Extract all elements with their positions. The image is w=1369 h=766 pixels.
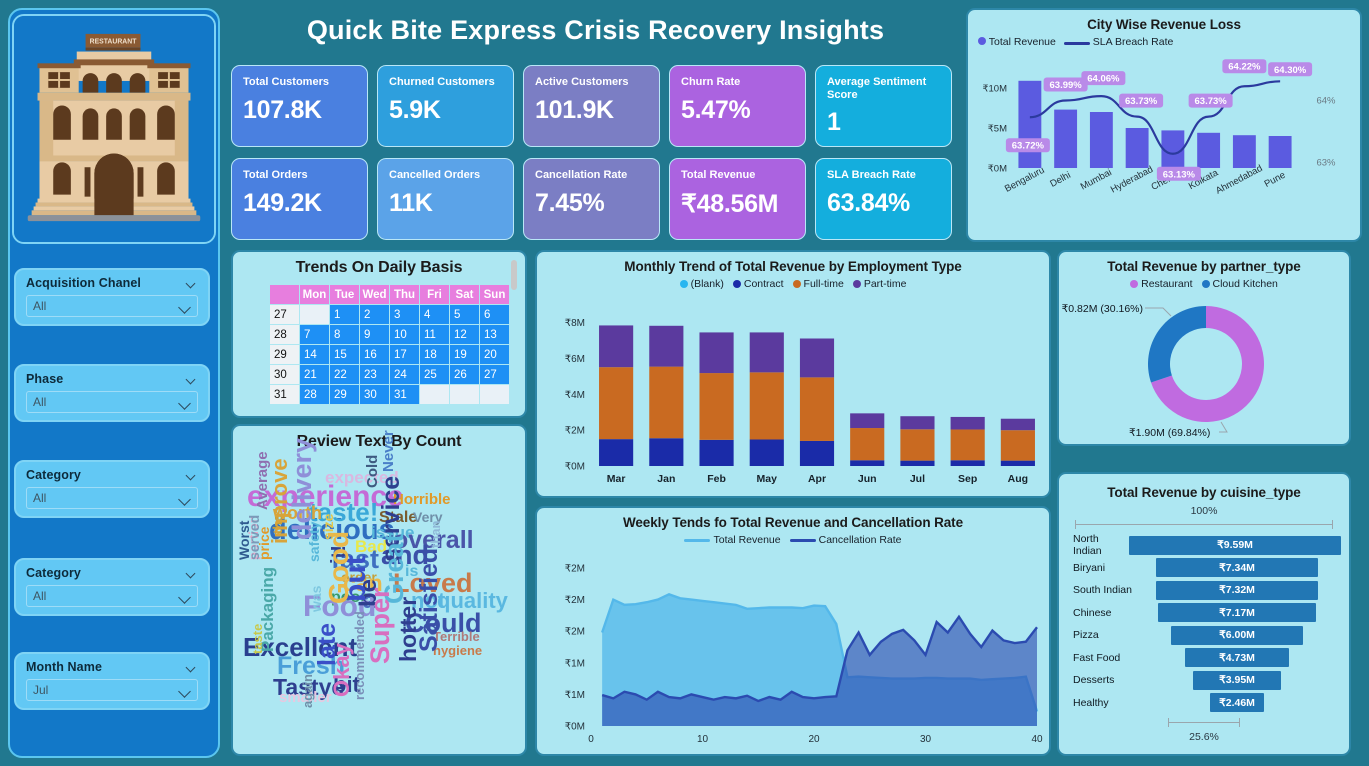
funnel-row[interactable]: North Indian₹9.59M: [1067, 534, 1341, 557]
donut-chart-plot[interactable]: ₹0.82M (30.16%)₹1.90M (69.84%): [1059, 296, 1353, 446]
kpi-label: Churned Customers: [389, 76, 503, 89]
word-cloud-word[interactable]: served: [247, 515, 261, 560]
chart-title: Monthly Trend of Total Revenue by Employ…: [537, 252, 1049, 274]
svg-text:₹2M: ₹2M: [565, 595, 585, 606]
kpi-card-total-revenue[interactable]: Total Revenue ₹48.56M: [669, 158, 806, 240]
calendar-week-number: 29: [270, 345, 300, 365]
svg-text:64%: 64%: [1316, 95, 1336, 106]
svg-text:Aug: Aug: [1008, 473, 1028, 485]
calendar-week-number: 30: [270, 365, 300, 385]
kpi-card-total-customers[interactable]: Total Customers 107.8K: [231, 65, 368, 147]
legend-label: Restaurant: [1141, 278, 1192, 290]
slicer-dropdown[interactable]: All: [26, 295, 198, 317]
funnel-track: ₹2.46M: [1133, 693, 1341, 712]
slicer-header: Acquisition Chanel: [26, 276, 198, 290]
slicer-month-name[interactable]: Month Name Jul: [14, 652, 210, 710]
weekly-chart-plot[interactable]: ₹0M₹1M₹1M₹2M₹2M₹2M010203040: [537, 560, 1053, 758]
calendar-day-header: Sun: [480, 285, 510, 305]
svg-text:Sep: Sep: [958, 473, 977, 485]
calendar-day-cell[interactable]: 27: [480, 365, 510, 385]
kpi-card-cancellation-rate[interactable]: Cancellation Rate 7.45%: [523, 158, 660, 240]
calendar-day-cell[interactable]: 25: [420, 365, 450, 385]
calendar-week-row: 3021222324252627: [270, 365, 510, 385]
word-cloud-word[interactable]: than: [429, 521, 442, 548]
svg-text:Jul: Jul: [910, 473, 925, 485]
legend-item[interactable]: Contract: [733, 278, 784, 290]
monthly-trend-card[interactable]: Monthly Trend of Total Revenue by Employ…: [535, 250, 1051, 498]
kpi-label: Total Revenue: [681, 169, 795, 182]
trends-on-daily-basis-card[interactable]: Trends On Daily Basis MonTueWedThuFriSat…: [231, 250, 527, 418]
funnel-category-label: Fast Food: [1067, 652, 1133, 664]
slicer-value: Jul: [33, 683, 48, 697]
svg-text:Delhi: Delhi: [1048, 170, 1072, 190]
calendar-day-cell[interactable]: 4: [420, 305, 450, 325]
svg-text:Hyderabad: Hyderabad: [1109, 164, 1155, 196]
calendar-week-number: 27: [270, 305, 300, 325]
calendar-week-number: 28: [270, 325, 300, 345]
legend-dot-icon: [680, 280, 688, 288]
kpi-card-average-sentiment-score[interactable]: Average Sentiment Score 1: [815, 65, 952, 147]
svg-text:RESTAURANT: RESTAURANT: [90, 39, 138, 46]
slicer-title: Category: [26, 566, 81, 580]
chevron-down-icon[interactable]: [179, 687, 191, 694]
calendar-day-cell[interactable]: 22: [330, 365, 360, 385]
kpi-value: 7.45%: [535, 189, 649, 218]
svg-text:63.99%: 63.99%: [1050, 80, 1083, 91]
svg-text:Feb: Feb: [707, 473, 726, 485]
legend-dot-icon: [853, 280, 861, 288]
slicer-phase[interactable]: Phase All: [14, 364, 210, 422]
calendar-empty-cell: [300, 305, 330, 325]
legend-item[interactable]: Full-time: [793, 278, 844, 290]
calendar-empty-cell: [420, 385, 450, 405]
funnel-category-label: South Indian: [1067, 584, 1133, 596]
slicer-value: All: [33, 299, 46, 313]
calendar-day-cell[interactable]: 2: [360, 305, 390, 325]
legend-label: Cancellation Rate: [819, 534, 902, 546]
word-cloud-word[interactable]: safety: [307, 522, 321, 562]
funnel-track: ₹7.32M: [1133, 581, 1341, 600]
legend-label: Total Revenue: [989, 36, 1056, 48]
svg-text:₹4M: ₹4M: [565, 390, 585, 401]
calendar-day-cell[interactable]: 24: [390, 365, 420, 385]
word-cloud-word[interactable]: taste: [251, 624, 264, 654]
svg-text:₹1M: ₹1M: [565, 690, 585, 701]
funnel-category-label: Desserts: [1067, 674, 1133, 686]
kpi-label: Average Sentiment Score: [827, 76, 941, 101]
funnel-category-label: Biryani: [1067, 562, 1133, 574]
funnel-bar[interactable]: ₹2.46M: [1210, 693, 1264, 712]
kpi-card-total-orders[interactable]: Total Orders 149.2K: [231, 158, 368, 240]
svg-text:Mar: Mar: [607, 473, 626, 485]
chevron-down-icon[interactable]: [186, 280, 198, 287]
calendar-day-cell[interactable]: 31: [390, 385, 420, 405]
funnel-bar[interactable]: ₹7.32M: [1156, 581, 1318, 600]
slicer-title: Category: [26, 468, 81, 482]
svg-text:₹0M: ₹0M: [565, 462, 585, 473]
slicer-dropdown[interactable]: All: [26, 585, 198, 607]
calendar-day-cell[interactable]: 30: [360, 385, 390, 405]
chevron-down-icon[interactable]: [179, 303, 191, 310]
svg-text:20: 20: [808, 734, 820, 745]
svg-text:Jun: Jun: [858, 473, 877, 485]
svg-text:30: 30: [920, 734, 932, 745]
city-chart-plot[interactable]: ₹0M₹5M₹10M63%64%BengaluruDelhiMumbaiHyde…: [968, 58, 1364, 238]
kpi-value: 11K: [389, 189, 503, 218]
calendar-corner: [270, 285, 300, 305]
svg-text:Mumbai: Mumbai: [1079, 167, 1114, 193]
calendar-day-cell[interactable]: 18: [420, 345, 450, 365]
legend-line-icon: [684, 539, 710, 542]
calendar-day-cell[interactable]: 3: [390, 305, 420, 325]
calendar-day-cell[interactable]: 15: [330, 345, 360, 365]
slicer-category-1[interactable]: Category All: [14, 460, 210, 518]
monthly-chart-plot[interactable]: ₹0M₹2M₹4M₹6M₹8MMarJanFebMayAprJunJulSepA…: [537, 304, 1053, 500]
funnel-row[interactable]: Pizza₹6.00M: [1067, 624, 1341, 647]
kpi-label: SLA Breach Rate: [827, 169, 941, 182]
svg-text:Jan: Jan: [657, 473, 675, 485]
chart-title: City Wise Revenue Loss: [968, 10, 1360, 32]
slicer-value: All: [33, 491, 46, 505]
legend-item[interactable]: Total Revenue: [684, 534, 780, 546]
legend-line-icon: [1064, 42, 1090, 45]
calendar-empty-cell: [480, 385, 510, 405]
svg-text:10: 10: [697, 734, 709, 745]
calendar-day-cell[interactable]: 9: [360, 325, 390, 345]
calendar-day-header: Tue: [330, 285, 360, 305]
funnel-bar[interactable]: ₹7.34M: [1156, 558, 1318, 577]
kpi-label: Active Customers: [535, 76, 649, 89]
word-cloud[interactable]: experienceexpecteddelicioustaste!worthCo…: [233, 452, 525, 754]
legend-dot-icon: [978, 37, 986, 45]
funnel-track: ₹3.95M: [1133, 671, 1341, 690]
slicer-dropdown[interactable]: Jul: [26, 679, 198, 701]
calendar-day-cell[interactable]: 17: [390, 345, 420, 365]
chart-title: Review Text By Count: [233, 426, 525, 451]
calendar-day-cell[interactable]: 21: [300, 365, 330, 385]
svg-text:May: May: [757, 473, 778, 485]
legend-label: Part-time: [864, 278, 907, 290]
kpi-card-churned-customers[interactable]: Churned Customers 5.9K: [377, 65, 514, 147]
funnel-track: ₹7.34M: [1133, 558, 1341, 577]
kpi-card-churn-rate[interactable]: Churn Rate 5.47%: [669, 65, 806, 147]
calendar-week-row: 2914151617181920: [270, 345, 510, 365]
funnel-category-label: Healthy: [1067, 697, 1133, 709]
calendar-week-row: 27123456: [270, 305, 510, 325]
monthly-legend[interactable]: (Blank)ContractFull-timePart-time: [537, 278, 1049, 290]
funnel-row[interactable]: Desserts₹3.95M: [1067, 669, 1341, 692]
chart-title: Total Revenue by cuisine_type: [1059, 474, 1349, 500]
slicer-value: All: [33, 395, 46, 409]
calendar-body: 2712345628789101112132914151617181920302…: [270, 305, 510, 405]
svg-text:₹0.82M (30.16%): ₹0.82M (30.16%): [1062, 303, 1143, 315]
funnel-bar[interactable]: ₹7.17M: [1158, 603, 1317, 622]
funnel-category-label: North Indian: [1067, 533, 1129, 557]
funnel-row[interactable]: Chinese₹7.17M: [1067, 602, 1341, 625]
legend-item[interactable]: Restaurant: [1130, 278, 1192, 290]
calendar-day-header: Thu: [390, 285, 420, 305]
cuisine-type-card[interactable]: Total Revenue by cuisine_type 100% North…: [1057, 472, 1351, 756]
legend-dot-icon: [793, 280, 801, 288]
svg-text:₹2M: ₹2M: [565, 426, 585, 437]
svg-text:₹1.90M (69.84%): ₹1.90M (69.84%): [1129, 427, 1210, 439]
funnel-top-caliper: [1075, 520, 1333, 530]
weekly-trends-card[interactable]: Weekly Tends fo Total Revenue and Cancel…: [535, 506, 1051, 756]
slicer-acquisition-chanel[interactable]: Acquisition Chanel All: [14, 268, 210, 326]
legend-dot-icon: [1130, 280, 1138, 288]
kpi-card-sla-breach-rate[interactable]: SLA Breach Rate 63.84%: [815, 158, 952, 240]
legend-item-sla-breach-rate[interactable]: SLA Breach Rate: [1064, 36, 1173, 48]
calendar-day-cell[interactable]: 10: [390, 325, 420, 345]
funnel-row[interactable]: South Indian₹7.32M: [1067, 579, 1341, 602]
calendar-day-cell[interactable]: 13: [480, 325, 510, 345]
svg-text:₹1M: ₹1M: [565, 658, 585, 669]
legend-label: SLA Breach Rate: [1093, 36, 1174, 48]
legend-label: Total Revenue: [713, 534, 780, 546]
svg-text:₹6M: ₹6M: [565, 354, 585, 365]
word-cloud-word[interactable]: again: [301, 674, 314, 708]
svg-text:64.30%: 64.30%: [1274, 65, 1307, 76]
slicer-header: Category: [26, 566, 198, 580]
kpi-card-cancelled-orders[interactable]: Cancelled Orders 11K: [377, 158, 514, 240]
svg-text:₹5M: ₹5M: [988, 124, 1007, 135]
calendar-header-row: MonTueWedThuFriSatSun: [270, 285, 510, 305]
chart-title: Trends On Daily Basis: [233, 252, 525, 277]
legend-item[interactable]: (Blank): [680, 278, 724, 290]
funnel-bar[interactable]: ₹4.73M: [1185, 648, 1290, 667]
svg-text:40: 40: [1031, 734, 1043, 745]
word-cloud-word[interactable]: was: [309, 586, 323, 612]
calendar-day-cell[interactable]: 5: [450, 305, 480, 325]
svg-text:₹0M: ₹0M: [565, 722, 585, 733]
calendar-day-header: Fri: [420, 285, 450, 305]
kpi-value: 101.9K: [535, 96, 649, 125]
calendar-day-cell[interactable]: 6: [480, 305, 510, 325]
legend-label: (Blank): [691, 278, 724, 290]
chevron-down-icon[interactable]: [179, 399, 191, 406]
svg-text:63.13%: 63.13%: [1163, 169, 1196, 180]
chevron-down-icon[interactable]: [186, 570, 198, 577]
svg-text:₹2M: ₹2M: [565, 627, 585, 638]
legend-label: Cloud Kitchen: [1213, 278, 1278, 290]
funnel-bar[interactable]: ₹3.95M: [1193, 671, 1280, 690]
slicer-value: All: [33, 589, 46, 603]
chevron-down-icon[interactable]: [179, 593, 191, 600]
kpi-value: ₹48.56M: [681, 189, 795, 219]
calendar-week-row: 3128293031: [270, 385, 510, 405]
svg-text:₹10M: ₹10M: [982, 84, 1007, 95]
calendar-day-cell[interactable]: 12: [450, 325, 480, 345]
chevron-down-icon[interactable]: [186, 664, 198, 671]
calendar-day-header: Mon: [300, 285, 330, 305]
donut-legend[interactable]: RestaurantCloud Kitchen: [1059, 278, 1349, 290]
legend-item[interactable]: Cloud Kitchen: [1202, 278, 1278, 290]
calendar-empty-cell: [450, 385, 480, 405]
chart-title: Weekly Tends fo Total Revenue and Cancel…: [537, 508, 1049, 530]
funnel-bar[interactable]: ₹6.00M: [1171, 626, 1304, 645]
slicer-header: Category: [26, 468, 198, 482]
kpi-label: Cancellation Rate: [535, 169, 649, 182]
funnel-rows[interactable]: North Indian₹9.59MBiryani₹7.34MSouth Ind…: [1059, 534, 1349, 714]
kpi-card-active-customers[interactable]: Active Customers 101.9K: [523, 65, 660, 147]
calendar-day-cell[interactable]: 28: [300, 385, 330, 405]
legend-item[interactable]: Cancellation Rate: [790, 534, 902, 546]
legend-label: Contract: [744, 278, 784, 290]
calendar-day-cell[interactable]: 29: [330, 385, 360, 405]
funnel-bottom-conversion: 25.6%: [1059, 731, 1349, 743]
slicer-dropdown[interactable]: All: [26, 487, 198, 509]
calendar-day-cell[interactable]: 8: [330, 325, 360, 345]
chevron-down-icon[interactable]: [179, 495, 191, 502]
review-text-by-count-card[interactable]: Review Text By Count experienceexpectedd…: [231, 424, 527, 756]
kpi-value: 1: [827, 108, 941, 137]
legend-label: Full-time: [804, 278, 844, 290]
funnel-top-conversion: 100%: [1059, 505, 1349, 517]
slicer-dropdown[interactable]: All: [26, 391, 198, 413]
funnel-bottom-caliper: [1168, 718, 1240, 728]
calendar-grid[interactable]: MonTueWedThuFriSatSun 271234562878910111…: [269, 284, 510, 405]
funnel-row[interactable]: Healthy₹2.46M: [1067, 692, 1341, 715]
svg-text:63.72%: 63.72%: [1012, 141, 1045, 152]
word-cloud-word[interactable]: Satisfied: [417, 548, 442, 652]
slicer-header: Month Name: [26, 660, 198, 674]
calendar-day-cell[interactable]: 19: [450, 345, 480, 365]
funnel-track: ₹7.17M: [1133, 603, 1341, 622]
calendar-day-cell[interactable]: 23: [360, 365, 390, 385]
kpi-value: 63.84%: [827, 189, 941, 218]
slicer-category-2[interactable]: Category All: [14, 558, 210, 616]
legend-dot-icon: [733, 280, 741, 288]
funnel-track: ₹6.00M: [1133, 626, 1341, 645]
word-cloud-word[interactable]: Never: [381, 430, 396, 472]
legend-line-icon: [790, 539, 816, 542]
calendar-day-cell[interactable]: 1: [330, 305, 360, 325]
partner-type-card[interactable]: Total Revenue by partner_type Restaurant…: [1057, 250, 1351, 446]
svg-text:63%: 63%: [1316, 157, 1336, 168]
calendar-day-cell[interactable]: 11: [420, 325, 450, 345]
chevron-down-icon[interactable]: [186, 472, 198, 479]
svg-text:0: 0: [588, 734, 594, 745]
word-cloud-word[interactable]: Super: [367, 587, 394, 664]
funnel-row[interactable]: Biryani₹7.34M: [1067, 557, 1341, 580]
svg-text:₹0M: ₹0M: [988, 164, 1007, 175]
kpi-label: Cancelled Orders: [389, 169, 503, 182]
calendar-day-cell[interactable]: 16: [360, 345, 390, 365]
kpi-label: Churn Rate: [681, 76, 795, 89]
calendar-day-cell[interactable]: 14: [300, 345, 330, 365]
calendar-week-number: 31: [270, 385, 300, 405]
svg-text:Pune: Pune: [1263, 170, 1288, 190]
restaurant-illustration-card: RESTAURANT: [12, 14, 216, 244]
kpi-label: Total Customers: [243, 76, 357, 89]
calendar-day-cell[interactable]: 7: [300, 325, 330, 345]
slicer-title: Phase: [26, 372, 63, 386]
svg-text:₹8M: ₹8M: [565, 318, 585, 329]
svg-text:63.73%: 63.73%: [1195, 96, 1228, 107]
funnel-track: ₹4.73M: [1133, 648, 1341, 667]
word-cloud-word[interactable]: Okay: [331, 643, 353, 697]
legend-dot-icon: [1202, 280, 1210, 288]
chart-title: Total Revenue by partner_type: [1059, 252, 1349, 274]
legend-item[interactable]: Part-time: [853, 278, 907, 290]
calendar-week-row: 2878910111213: [270, 325, 510, 345]
svg-text:64.06%: 64.06%: [1087, 74, 1120, 85]
funnel-category-label: Chinese: [1067, 607, 1133, 619]
funnel-track: ₹9.59M: [1129, 536, 1341, 555]
slicer-header: Phase: [26, 372, 198, 386]
legend-item-total-revenue[interactable]: Total Revenue: [978, 36, 1056, 48]
weekly-legend[interactable]: Total RevenueCancellation Rate: [537, 534, 1049, 546]
slicer-title: Acquisition Chanel: [26, 276, 141, 290]
calendar-day-cell[interactable]: 26: [450, 365, 480, 385]
kpi-value: 5.9K: [389, 96, 503, 125]
kpi-value: 149.2K: [243, 189, 357, 218]
funnel-category-label: Pizza: [1067, 629, 1133, 641]
svg-text:63.73%: 63.73%: [1125, 96, 1158, 107]
calendar-scrollbar[interactable]: [511, 260, 517, 290]
funnel-row[interactable]: Fast Food₹4.73M: [1067, 647, 1341, 670]
page-title: Quick Bite Express Crisis Recovery Insig…: [228, 8, 963, 52]
city-wise-revenue-loss-card[interactable]: City Wise Revenue Loss Total Revenue SLA…: [966, 8, 1362, 242]
svg-text:64.22%: 64.22%: [1228, 62, 1261, 73]
svg-text:₹2M: ₹2M: [565, 564, 585, 575]
kpi-label: Total Orders: [243, 169, 357, 182]
funnel-bar[interactable]: ₹9.59M: [1129, 536, 1341, 555]
dashboard-canvas: RESTAURANT: [0, 0, 1369, 766]
calendar-table: MonTueWedThuFriSatSun 271234562878910111…: [269, 284, 510, 405]
svg-text:Bengaluru: Bengaluru: [1003, 165, 1046, 195]
kpi-value: 107.8K: [243, 96, 357, 125]
calendar-day-header: Sat: [450, 285, 480, 305]
slicer-title: Month Name: [26, 660, 102, 674]
word-cloud-word[interactable]: Good: [325, 531, 353, 604]
chevron-down-icon[interactable]: [186, 376, 198, 383]
calendar-day-header: Wed: [360, 285, 390, 305]
svg-text:Apr: Apr: [808, 473, 826, 485]
calendar-day-cell[interactable]: 20: [480, 345, 510, 365]
kpi-value: 5.47%: [681, 96, 795, 125]
restaurant-building-icon: RESTAURANT: [14, 16, 214, 242]
